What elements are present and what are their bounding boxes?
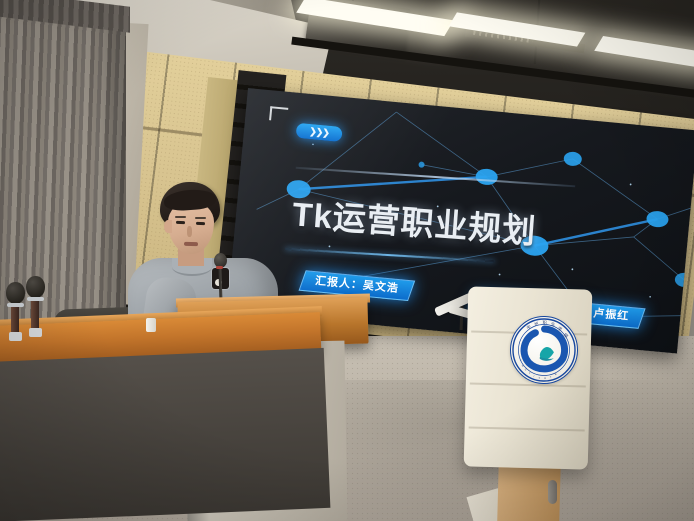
presenter-eye-right	[196, 222, 205, 225]
presenter-eye-left	[176, 221, 185, 224]
emblem-graphic: 中 州 职 业 学 院 I N S T I T U T E .	[510, 316, 578, 384]
lecture-hall-photo: ❯❯❯ Tk运营职业规划 汇报人：吴文浩 指导老师：钱小莉、卢振红	[0, 0, 694, 521]
microphone-base	[29, 328, 42, 337]
microphone-body	[31, 301, 39, 329]
corner-bracket-icon	[269, 106, 288, 122]
svg-text:职: 职	[543, 320, 547, 326]
svg-text:U: U	[544, 376, 546, 380]
microphone-base	[9, 332, 22, 341]
presenter-brow-left	[175, 216, 186, 218]
university-emblem: 中 州 职 业 学 院 I N S T I T U T E .	[509, 315, 579, 385]
table-object	[146, 318, 156, 332]
presenter-nose	[187, 226, 192, 237]
svg-text:业: 业	[550, 320, 555, 327]
table-front-panel	[0, 348, 330, 521]
presenter-brow-right	[195, 217, 206, 219]
microphone-body	[11, 307, 19, 335]
lectern-knob	[548, 480, 557, 504]
svg-text:T: T	[538, 376, 541, 380]
microphone-head-icon	[26, 276, 45, 298]
svg-text:N: N	[521, 364, 525, 368]
presenter-mouth	[184, 242, 198, 246]
microphone-indicator	[216, 266, 223, 269]
presenter-ear	[164, 220, 172, 233]
svg-text:州: 州	[534, 321, 539, 327]
lectern-seam	[469, 426, 585, 431]
microphone-head-icon	[6, 282, 25, 304]
svg-text:I: I	[533, 374, 535, 378]
svg-text:T: T	[549, 375, 552, 379]
